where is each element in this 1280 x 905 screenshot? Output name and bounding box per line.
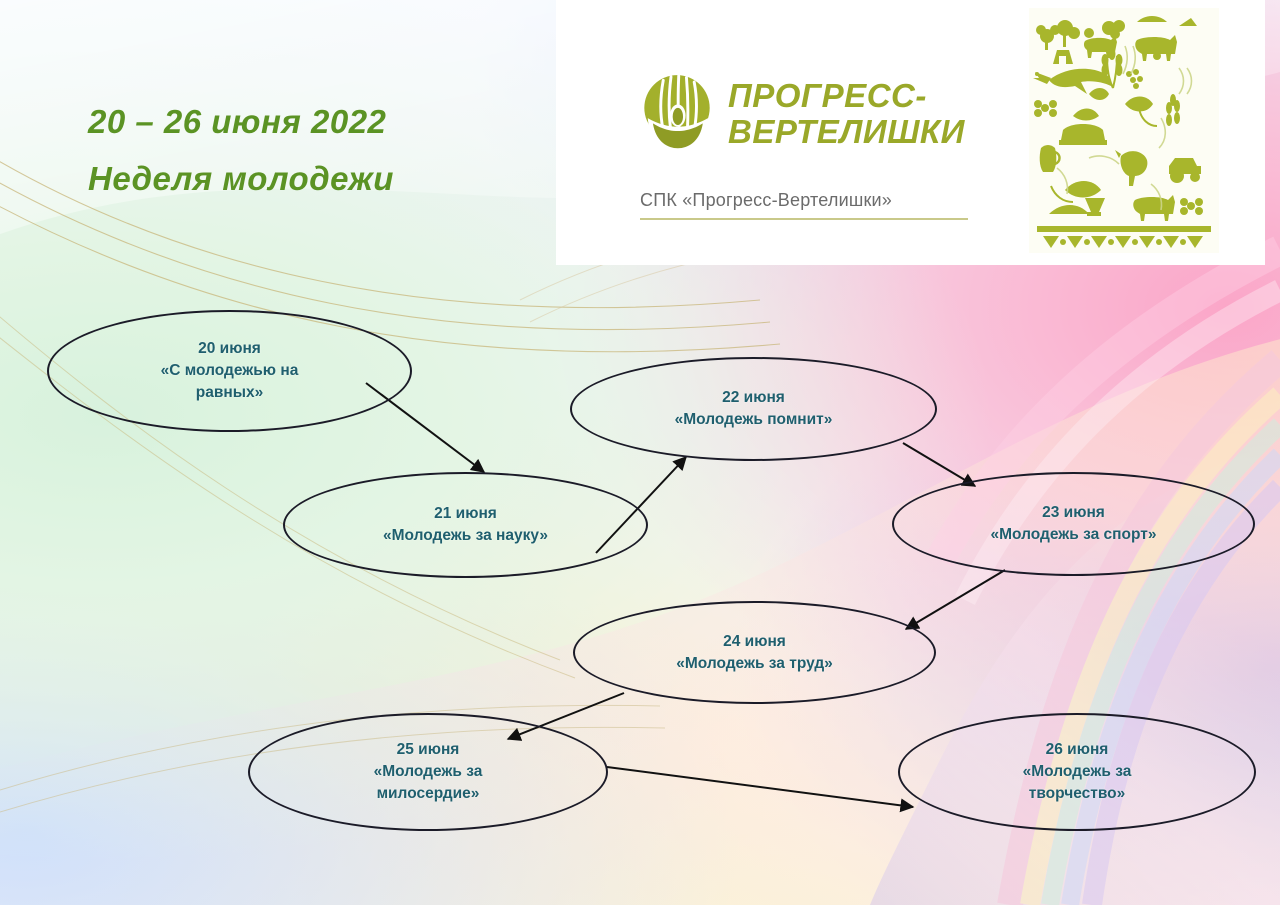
company-name: СПК «Прогресс-Вертелишки»	[640, 190, 892, 211]
headline-dates: 20 – 26 июня 2022	[88, 103, 386, 141]
flow-node-24-june[interactable]: 24 июня «Молодежь за труд»	[573, 601, 936, 704]
grain-circle-logo-icon	[634, 70, 720, 156]
slide-canvas: ПРОГРЕСС- ВЕРТЕЛИШКИ СПК «Прогресс-Верте…	[0, 0, 1280, 905]
company-name-underline	[640, 218, 968, 220]
flow-node-label: 20 июня «С молодежью на равных»	[161, 338, 299, 404]
flow-node-25-june[interactable]: 25 июня «Молодежь за милосердие»	[248, 713, 608, 831]
flow-node-20-june[interactable]: 20 июня «С молодежью на равных»	[47, 310, 412, 432]
flow-node-23-june[interactable]: 23 июня «Молодежь за спорт»	[892, 472, 1255, 576]
flow-node-label: 22 июня «Молодежь помнит»	[675, 387, 833, 431]
flow-node-label: 23 июня «Молодежь за спорт»	[991, 502, 1157, 546]
flow-node-26-june[interactable]: 26 июня «Молодежь за творчество»	[898, 713, 1256, 831]
logo-wordmark: ПРОГРЕСС- ВЕРТЕЛИШКИ	[728, 78, 965, 149]
flow-node-label: 26 июня «Молодежь за творчество»	[1023, 739, 1132, 805]
flow-node-22-june[interactable]: 22 июня «Молодежь помнит»	[570, 357, 937, 461]
flow-node-label: 25 июня «Молодежь за милосердие»	[374, 739, 483, 805]
headline-subtitle: Неделя молодежи	[88, 160, 394, 198]
flow-node-label: 21 июня «Молодежь за науку»	[383, 503, 548, 547]
flow-node-21-june[interactable]: 21 июня «Молодежь за науку»	[283, 472, 648, 578]
agricultural-ornament-panel-icon	[1029, 8, 1219, 253]
flow-node-label: 24 июня «Молодежь за труд»	[676, 631, 833, 675]
logo-card: ПРОГРЕСС- ВЕРТЕЛИШКИ СПК «Прогресс-Верте…	[556, 0, 1265, 265]
